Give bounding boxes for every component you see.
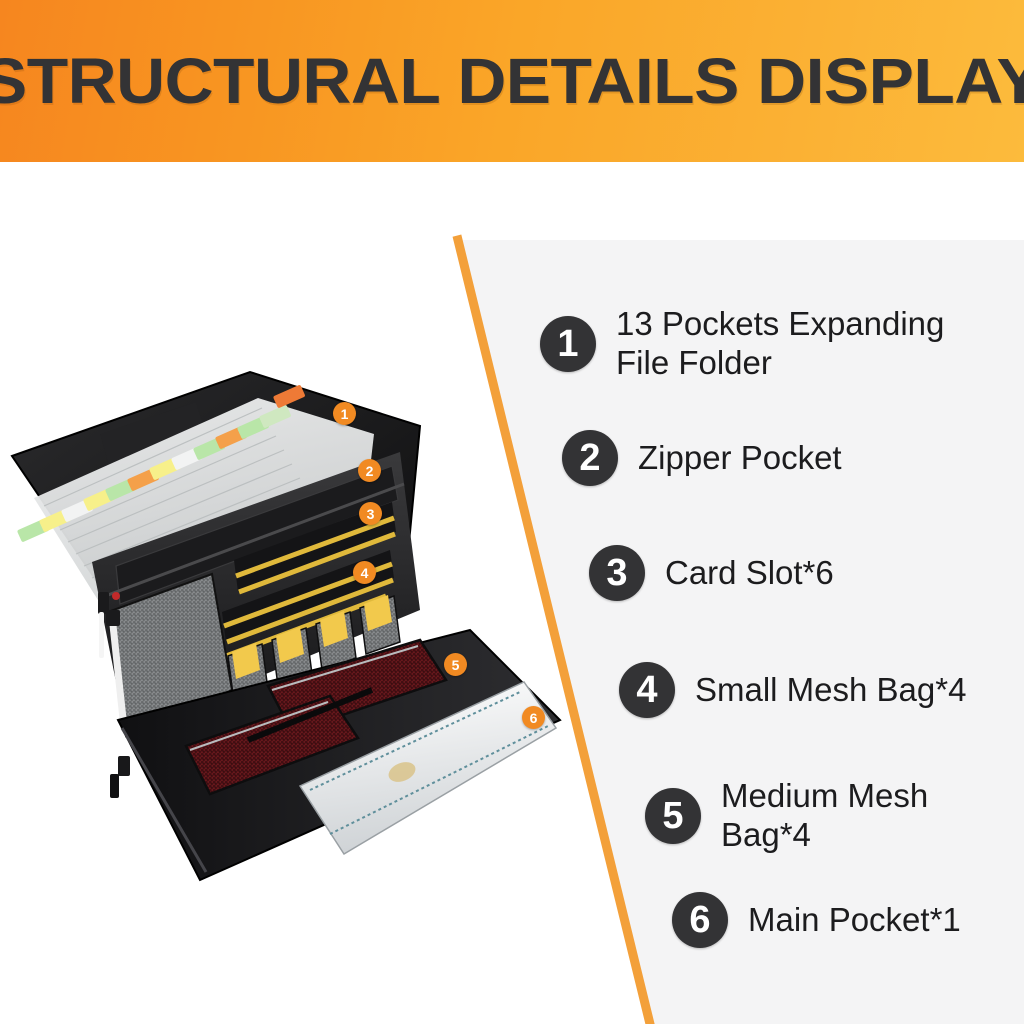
spec-item-1: 1 13 Pockets Expanding File Folder — [540, 305, 944, 383]
spec-number-6: 6 — [672, 892, 728, 948]
header-banner: STRUCTURAL DETAILS DISPLAY — [0, 0, 1024, 162]
infographic-page: STRUCTURAL DETAILS DISPLAY — [0, 0, 1024, 1024]
spec-label-4: Small Mesh Bag*4 — [695, 671, 966, 710]
spec-label-1: 13 Pockets Expanding File Folder — [616, 305, 944, 383]
spec-item-6: 6 Main Pocket*1 — [672, 892, 961, 948]
spec-number-2: 2 — [562, 430, 618, 486]
spec-label-5: Medium Mesh Bag*4 — [721, 777, 1024, 855]
spec-item-5: 5 Medium Mesh Bag*4 — [645, 777, 1024, 855]
spec-item-4: 4 Small Mesh Bag*4 — [619, 662, 966, 718]
spec-item-3: 3 Card Slot*6 — [589, 545, 834, 601]
spec-label-2: Zipper Pocket — [638, 439, 842, 478]
specification-list: 1 13 Pockets Expanding File Folder 2 Zip… — [0, 162, 1024, 1024]
spec-number-5: 5 — [645, 788, 701, 844]
spec-number-3: 3 — [589, 545, 645, 601]
spec-number-4: 4 — [619, 662, 675, 718]
spec-item-2: 2 Zipper Pocket — [562, 430, 842, 486]
page-title: STRUCTURAL DETAILS DISPLAY — [0, 49, 1024, 113]
spec-label-3: Card Slot*6 — [665, 554, 834, 593]
spec-number-1: 1 — [540, 316, 596, 372]
spec-label-6: Main Pocket*1 — [748, 901, 961, 940]
